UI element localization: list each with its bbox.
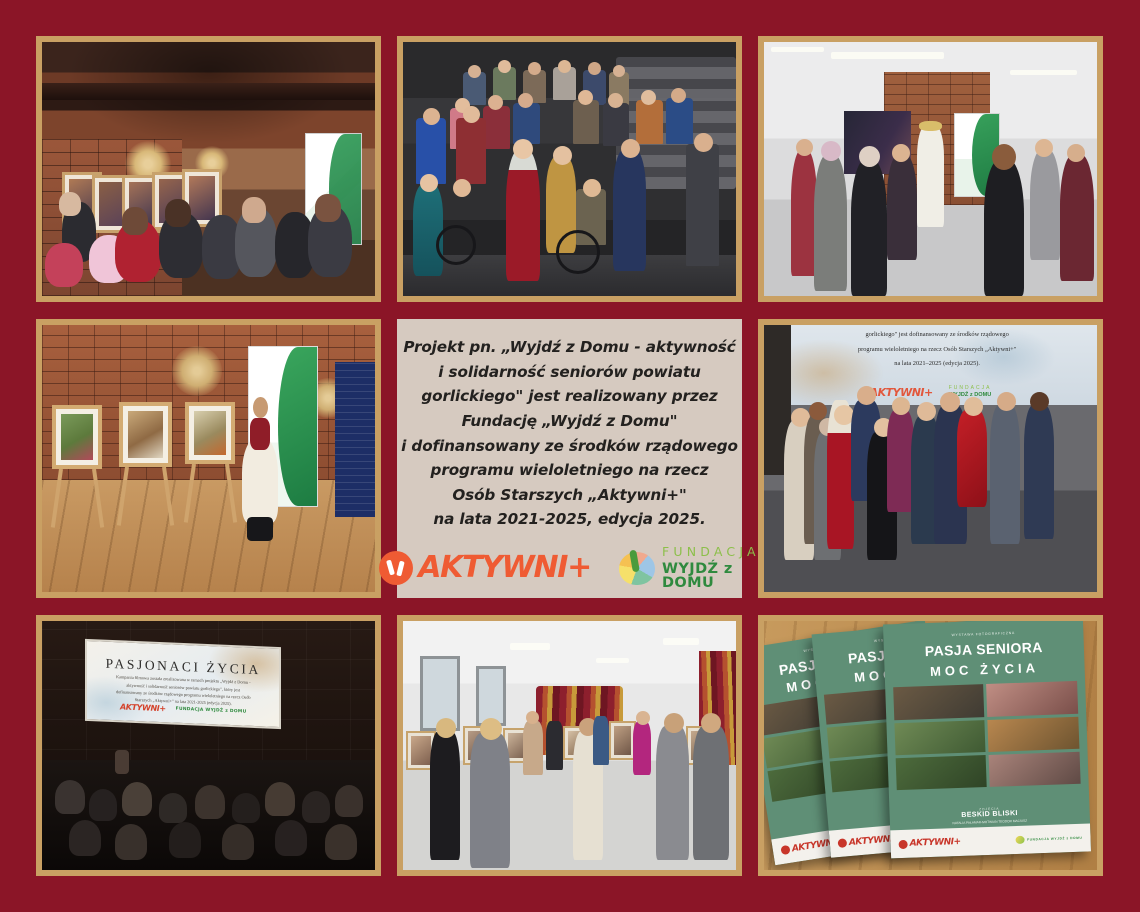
aktywni-plus-logo: AKTYWNI+ xyxy=(379,551,591,585)
running-figures-icon xyxy=(837,838,847,848)
brochure-subtitle: WYSTAWA FOTOGRAFICZNA xyxy=(884,628,1084,639)
description-line-6: programu wieloletniego na rzecz xyxy=(431,458,709,483)
wheelchair-wheel xyxy=(436,225,476,265)
photo-cinema-screening: PASJONACI ŻYCIA Kampania filmowa została… xyxy=(36,615,381,876)
woman-red-coat xyxy=(957,410,987,506)
photo-award-group: gorlickiego" jest dofinansowany ze środk… xyxy=(758,319,1103,598)
woman-red-dress xyxy=(506,149,539,281)
photo-brochures: WYSTAWA FOTOGRAFICZNA PASJA SENIORA MOC … xyxy=(758,615,1103,876)
man-navy-suit xyxy=(613,149,646,271)
black-boots xyxy=(247,517,274,541)
woman-magenta-dress xyxy=(633,721,651,776)
photo-brick-gallery-opening xyxy=(36,36,381,302)
brochure-title-line2: MOC ŻYCIA xyxy=(885,659,1085,681)
fundacja-wordmark: FUNDACJA WYJDŹ z DOMU xyxy=(662,546,760,591)
wooden-floor xyxy=(42,480,375,592)
brochure-title-line1: PASJA SENIORA xyxy=(884,637,1084,660)
brochure-logo-bar: AKTYWNI+ FUNDACJA WYJDŹ z DOMU xyxy=(890,823,1091,858)
ceiling-light xyxy=(831,52,944,58)
running-figures-icon xyxy=(899,839,908,848)
panel-logos: AKTYWNI+ FUNDACJA WYJDŹ z DOMU xyxy=(409,546,730,591)
photo-image: WYSTAWA FOTOGRAFICZNA PASJA SENIORA MOC … xyxy=(764,621,1097,870)
fundacja-wordmark: FUNDACJA WYJDŹ z DOMU xyxy=(1027,836,1082,842)
project-banner-backdrop: gorlickiego" jest dofinansowany ze środk… xyxy=(764,325,1097,405)
project-description-panel: Projekt pn. „Wyjdź z Domu - aktywność i … xyxy=(397,319,742,598)
photo-image xyxy=(403,621,736,870)
aktywni-plus-wordmark: AKTYWNI+ xyxy=(418,553,591,583)
photo-auditorium-group xyxy=(397,36,742,302)
fundacja-circle-icon xyxy=(619,552,655,585)
description-line-3: gorlickiego" jest realizowany przez xyxy=(421,384,717,409)
photo-folk-singer xyxy=(36,319,381,598)
banner-text-line-3: na lata 2021–2025 (edycja 2025). xyxy=(791,360,1084,367)
straw-hat-icon xyxy=(919,121,942,131)
aktywni-plus-logo: AKTYWNI+ xyxy=(899,837,961,849)
wheelchair-wheel xyxy=(556,230,600,274)
description-line-1: Projekt pn. „Wyjdź z Domu - aktywność xyxy=(403,335,735,360)
ceiling-light xyxy=(663,638,700,644)
ceiling-light xyxy=(596,658,629,663)
ceiling-light xyxy=(510,643,550,649)
running-figures-icon xyxy=(781,846,791,856)
photo-image xyxy=(42,325,375,592)
description-line-5: i dofinansowany ze środków rządowego xyxy=(401,434,738,459)
woman-teal-dress xyxy=(413,184,443,275)
description-line-7: Osób Starszych „Aktywni+" xyxy=(452,483,686,508)
photo-image xyxy=(764,42,1097,296)
host-white-suit xyxy=(917,126,944,228)
banner-text-line-2: programu wieloletniego na rzecz Osób Sta… xyxy=(791,346,1084,353)
photo-image: gorlickiego" jest dofinansowany ze środk… xyxy=(764,325,1097,592)
description-line-8: na lata 2021-2025, edycja 2025. xyxy=(433,507,705,532)
photo-collage-poster: Projekt pn. „Wyjdź z Domu - aktywność i … xyxy=(0,0,1140,912)
photo-image: PASJONACI ŻYCIA Kampania filmowa została… xyxy=(42,621,375,870)
collage-grid: Projekt pn. „Wyjdź z Domu - aktywność i … xyxy=(36,36,1104,876)
fundacja-wyjdz-z-domu-logo: FUNDACJA WYJDŹ z DOMU xyxy=(1015,834,1082,844)
fundacja-circle-icon xyxy=(1015,836,1024,844)
visitors-crowd xyxy=(42,169,375,296)
brochure-front: WYSTAWA FOTOGRAFICZNA PASJA SENIORA MOC … xyxy=(883,621,1091,858)
aktywni-plus-wordmark: AKTYWNI+ xyxy=(910,837,961,849)
photo-image xyxy=(42,42,375,296)
brochure-photo-grid xyxy=(893,681,1080,790)
ceiling-light xyxy=(771,47,824,52)
running-figures-icon xyxy=(379,551,413,585)
description-line-2: i solidarność seniorów powiatu xyxy=(438,360,700,385)
fundacja-label-bottom: WYJDŹ z DOMU xyxy=(662,562,760,591)
straw-star-decoration xyxy=(172,346,222,396)
window xyxy=(476,666,506,726)
ceiling-beam xyxy=(42,83,375,101)
fundacja-label-top: FUNDACJA xyxy=(662,546,760,559)
photo-image xyxy=(403,42,736,296)
folk-costume-vest xyxy=(250,418,270,450)
photo-white-corridor-host xyxy=(758,36,1103,302)
photographer-silhouette xyxy=(115,750,129,774)
photo-display-board xyxy=(335,362,375,517)
ceiling-light xyxy=(1010,70,1077,75)
fundacja-wordmark: FUNDACJA WYJDŹ z DOMU xyxy=(176,707,247,715)
cinema-audience xyxy=(42,760,375,870)
photo-exhibition-hall xyxy=(397,615,742,876)
fundacja-wyjdz-z-domu-logo: FUNDACJA WYJDŹ z DOMU xyxy=(619,546,760,591)
description-line-4: Fundację „Wyjdź z Domu" xyxy=(462,409,678,434)
banner-text-line-1: gorlickiego" jest dofinansowany ze środk… xyxy=(791,330,1084,340)
cinema-screen: PASJONACI ŻYCIA Kampania filmowa została… xyxy=(85,639,281,729)
